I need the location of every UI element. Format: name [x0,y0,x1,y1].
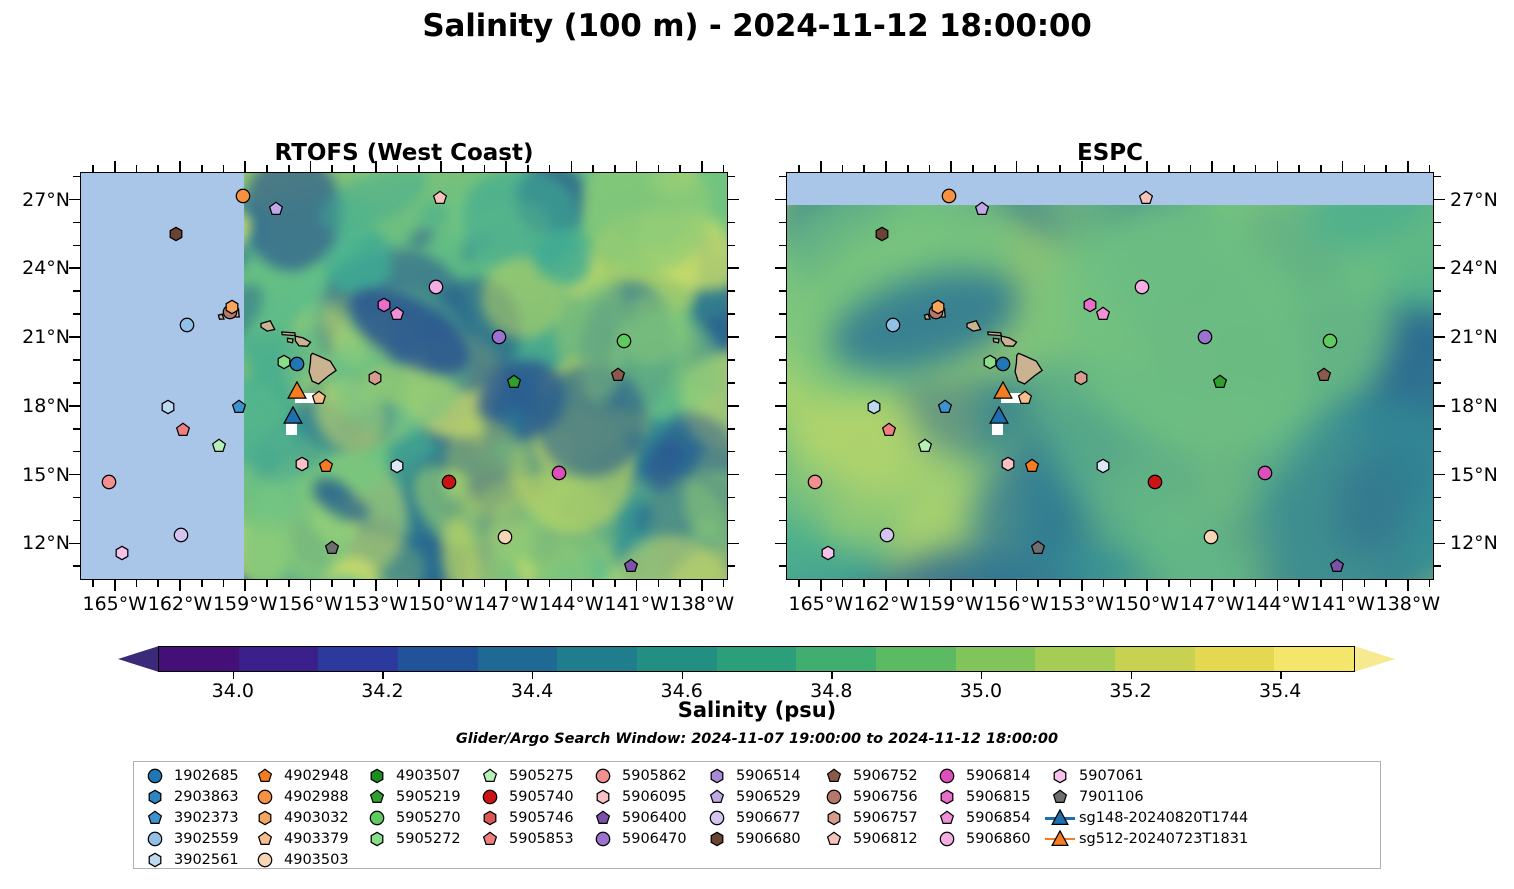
y-axis-minor-tick [728,428,735,430]
legend-item-5906400[interactable]: 5906400 [588,808,702,829]
map-marker-5906860[interactable] [428,279,444,295]
map-marker-5906529[interactable] [268,201,284,217]
colorbar-extend-high [1354,646,1395,672]
y-axis-minor-tick [73,382,80,384]
y-axis-tick [69,267,80,269]
x-axis-minor-tick [1233,165,1235,172]
legend-item-5905740[interactable]: 5905740 [475,787,588,808]
map-marker-3902559[interactable] [179,317,195,333]
map-marker-5906095[interactable] [294,456,310,472]
legend-marker-circle-icon [702,810,732,826]
map-marker-5906470[interactable] [1197,329,1213,345]
map-panel-rtofs[interactable] [80,172,728,580]
map-marker-5906677[interactable] [173,527,189,543]
legend-label: 5905862 [618,768,687,784]
legend-grid: 1902685290386339023733902559390256149029… [140,766,1220,870]
x-axis-minor-tick [1320,580,1322,587]
legend-label: sg148-20240820T1744 [1075,810,1248,826]
map-marker-sg512-20240723T1831[interactable] [993,381,1013,401]
x-axis-tick [375,580,377,591]
legend-label: 3902373 [170,810,239,826]
y-axis-minor-tick [779,290,786,292]
x-axis-minor-tick [1385,580,1387,587]
colorbar-tick [382,672,383,679]
legend-marker-pentagon-icon [1045,789,1075,805]
map-marker-5906680[interactable] [874,226,890,242]
map-marker-5905862[interactable] [807,474,823,490]
legend-label: 4903507 [392,768,461,784]
map-marker-5905740[interactable] [1147,474,1163,490]
x-axis-minor-tick [929,580,931,587]
legend-item-5906812[interactable]: 5906812 [819,828,932,849]
x-axis-tick [1277,161,1279,172]
legend-marker-circle-icon [140,768,170,784]
legend-label: 5906529 [732,789,801,805]
y-axis-tick [1434,405,1445,407]
map-marker-3902559b[interactable] [1095,458,1111,474]
legend-item-5906854[interactable]: 5906854 [932,808,1045,829]
x-axis-minor-tick [723,580,725,587]
legend-label: 4902948 [280,768,349,784]
x-axis-tick [244,580,246,591]
legend-column-0: 19026852903863390237339025593902561 [140,766,250,870]
y-axis-minor-tick [728,290,735,292]
legend-marker-hexagon-icon [140,789,170,805]
y-axis-minor-tick [1434,176,1441,178]
y-axis-tick [775,267,786,269]
x-axis-minor-tick [1103,165,1105,172]
x-axis-minor-tick [288,165,290,172]
colorbar[interactable]: 34.034.234.434.634.835.035.235.4 [118,646,1395,672]
y-axis-minor-tick [779,497,786,499]
x-axis-minor-tick [1124,165,1126,172]
colorbar-tick [233,672,234,679]
map-marker-sg148-20240820T1744[interactable] [989,406,1009,426]
map-panel-espc[interactable] [786,172,1434,580]
x-axis-tick [1016,161,1018,172]
x-axis-minor-tick [1429,165,1431,172]
legend-label: 4903032 [280,810,349,826]
x-axis-tick [636,580,638,591]
x-axis-minor-tick [842,165,844,172]
legend-item-5906680[interactable]: 5906680 [702,828,819,849]
salinity-field-rtofs [81,173,727,579]
y-axis-tick-label: 27°N [1450,189,1498,211]
colorbar-tick [1280,672,1281,679]
y-axis-tick [775,474,786,476]
map-marker-5905270[interactable] [1322,333,1338,349]
map-marker-5906470[interactable] [491,329,507,345]
map-marker-7901106[interactable] [324,540,340,556]
x-axis-minor-tick [136,165,138,172]
colorbar-band-12 [1115,647,1195,671]
legend-label: 7901106 [1075,789,1144,805]
map-marker-5905275[interactable] [917,438,933,454]
legend-item-2903863[interactable]: 2903863 [140,787,250,808]
y-axis-minor-tick [1434,520,1441,522]
map-marker-5906400[interactable] [1329,558,1345,574]
x-axis-tick-label: 138°W [1363,593,1453,615]
y-axis-tick [775,199,786,201]
map-marker-5906529[interactable] [974,201,990,217]
x-axis-tick [950,580,952,591]
map-marker-1902685[interactable] [289,356,305,372]
map-marker-5905275[interactable] [211,438,227,454]
map-marker-5906860[interactable] [1134,279,1150,295]
y-axis-minor-tick [728,176,735,178]
legend-item-5906677[interactable]: 5906677 [702,808,819,829]
legend-item-5906757[interactable]: 5906757 [819,808,932,829]
map-marker-5906814[interactable] [1257,465,1273,481]
y-axis-minor-tick [73,451,80,453]
legend-item-5905275[interactable]: 5905275 [475,766,588,787]
legend-item-4903503[interactable]: 4903503 [250,849,362,870]
map-marker-5905862[interactable] [101,474,117,490]
x-axis-tick [505,580,507,591]
map-marker-sg512-20240723T1831[interactable] [287,381,307,401]
map-marker-3902561[interactable] [160,399,176,415]
x-axis-minor-tick [527,165,529,172]
x-axis-minor-tick [1168,580,1170,587]
legend-item-5906815[interactable]: 5906815 [932,787,1045,808]
legend-marker-hexagon-icon [362,831,392,847]
legend-marker-circle-icon [932,831,962,847]
map-marker-5906812[interactable] [432,190,448,206]
legend-label: 5905746 [505,810,574,826]
legend-item-5905272[interactable]: 5905272 [362,828,475,849]
legend-item-4903507[interactable]: 4903507 [362,766,475,787]
legend-marker-pentagon-icon [819,768,849,784]
x-axis-minor-tick [157,165,159,172]
legend-item-5905853[interactable]: 5905853 [475,828,588,849]
legend-marker-triangle-line-icon [1045,831,1075,847]
x-axis-tick [950,161,952,172]
y-axis-tick [728,267,739,269]
legend-label: 3902561 [170,852,239,868]
legend-item-5906860[interactable]: 5906860 [932,828,1045,849]
map-marker-4903032[interactable] [224,299,240,315]
x-axis-minor-tick [907,165,909,172]
legend-marker-pentagon-icon [250,768,280,784]
x-axis-minor-tick [1059,165,1061,172]
x-axis-minor-tick [1429,580,1431,587]
map-marker-7901106[interactable] [1030,540,1046,556]
legend-item-5906529[interactable]: 5906529 [702,787,819,808]
legend-item-3902561[interactable]: 3902561 [140,849,250,870]
legend-marker-hexagon-icon [475,810,505,826]
legend-item-4903032[interactable]: 4903032 [250,808,362,829]
x-axis-tick [1081,161,1083,172]
legend-marker-circle-icon [588,768,618,784]
legend-label: 5905219 [392,789,461,805]
y-axis-tick [775,543,786,545]
legend-item-3902559[interactable]: 3902559 [140,828,250,849]
y-axis-tick-label: 18°N [1450,395,1498,417]
x-axis-minor-tick [201,580,203,587]
island-hawaii-big-island [309,353,336,384]
map-marker-5906680[interactable] [168,226,184,242]
y-axis-minor-tick [728,497,735,499]
x-axis-minor-tick [1190,165,1192,172]
x-axis-minor-tick [1364,580,1366,587]
legend-item-5906756[interactable]: 5906756 [819,787,932,808]
legend-item-5905862[interactable]: 5905862 [588,766,702,787]
y-axis-minor-tick [728,451,735,453]
legend-item-5906095[interactable]: 5906095 [588,787,702,808]
y-axis-minor-tick [728,222,735,224]
legend-item-7901106[interactable]: 7901106 [1045,787,1220,808]
y-axis-minor-tick [1434,290,1441,292]
map-marker-4902948[interactable] [1024,458,1040,474]
map-marker-4903503[interactable] [497,529,513,545]
legend-column-2: 4903507590521959052705905272 [362,766,475,870]
y-axis-tick [69,474,80,476]
x-axis-minor-tick [592,165,594,172]
legend-label: 5906757 [849,810,918,826]
legend-item-5905219[interactable]: 5905219 [362,787,475,808]
map-marker-3902373[interactable] [231,399,247,415]
x-axis-tick [310,161,312,172]
island-oahu [967,321,981,331]
x-axis-minor-tick [863,165,865,172]
legend-item-4903379[interactable]: 4903379 [250,828,362,849]
x-axis-tick [1342,161,1344,172]
x-axis-minor-tick [331,165,333,172]
legend-item-5906752[interactable]: 5906752 [819,766,932,787]
legend-item-sg148-20240820T1744[interactable]: sg148-20240820T1744 [1045,808,1220,829]
y-axis-minor-tick [779,359,786,361]
y-axis-minor-tick [73,497,80,499]
map-marker-4903379[interactable] [1017,390,1033,406]
colorbar-gradient [158,646,1355,672]
y-axis-minor-tick [728,245,735,247]
map-marker-4902988[interactable] [941,188,957,204]
map-marker-5905219[interactable] [1212,374,1228,390]
map-marker-5906752[interactable] [1316,367,1332,383]
legend-marker-hexagon-icon [1045,768,1075,784]
map-marker-3902373[interactable] [937,399,953,415]
y-axis-tick [69,336,80,338]
x-axis-tick [1342,580,1344,591]
map-marker-1902685[interactable] [995,356,1011,372]
map-marker-5905270[interactable] [616,333,632,349]
colorbar-label: Salinity (psu) [0,698,1514,722]
legend-label: 5906680 [732,831,801,847]
legend-label: 5906095 [618,789,687,805]
map-marker-4902948[interactable] [318,458,334,474]
map-marker-5906812[interactable] [1138,190,1154,206]
colorbar-band-6 [637,647,717,671]
x-axis-minor-tick [484,580,486,587]
y-axis-minor-tick [1434,428,1441,430]
y-axis-tick-label: 24°N [2,257,70,279]
map-marker-3902559b[interactable] [389,458,405,474]
x-axis-minor-tick [462,580,464,587]
map-marker-4903503[interactable] [1203,529,1219,545]
x-axis-minor-tick [658,165,660,172]
map-marker-5907061[interactable] [114,545,130,561]
map-marker-5906400[interactable] [623,558,639,574]
legend-label: 4903503 [280,852,349,868]
x-axis-minor-tick [462,165,464,172]
x-axis-tick [1407,580,1409,591]
colorbar-band-1 [239,647,319,671]
x-axis-minor-tick [1037,580,1039,587]
x-axis-minor-tick [679,580,681,587]
island-lanai [287,338,293,342]
map-marker-3902559[interactable] [885,317,901,333]
x-axis-minor-tick [288,580,290,587]
map-marker-5906757[interactable] [367,370,383,386]
map-marker-5906757[interactable] [1073,370,1089,386]
y-axis-minor-tick [779,451,786,453]
x-axis-minor-tick [527,580,529,587]
legend-item-5906514[interactable]: 5906514 [702,766,819,787]
x-axis-tick [1146,580,1148,591]
x-axis-tick [440,161,442,172]
y-axis-tick [1434,474,1445,476]
x-axis-tick [820,161,822,172]
legend-marker-circle-icon [932,768,962,784]
legend-item-sg512-20240723T1831[interactable]: sg512-20240723T1831 [1045,828,1220,849]
legend-item-5907061[interactable]: 5907061 [1045,766,1220,787]
y-axis-minor-tick [728,382,735,384]
x-axis-minor-tick [1037,165,1039,172]
legend-marker-pentagon-icon [250,831,280,847]
x-axis-minor-tick [418,580,420,587]
y-axis-tick [728,199,739,201]
legend-marker-hexagon-icon [588,789,618,805]
legend-label: 5905275 [505,768,574,784]
x-axis-tick [571,580,573,591]
map-marker-5906752[interactable] [610,367,626,383]
y-axis-minor-tick [73,428,80,430]
map-marker-5906095[interactable] [1000,456,1016,472]
legend-label: 5906752 [849,768,918,784]
x-axis-minor-tick [223,165,225,172]
map-marker-4903379[interactable] [311,390,327,406]
legend-label: 5906814 [962,768,1031,784]
x-axis-tick [505,161,507,172]
map-marker-5906854[interactable] [1095,306,1111,322]
x-axis-minor-tick [1103,580,1105,587]
map-marker-5905853[interactable] [881,422,897,438]
map-marker-5906677[interactable] [879,527,895,543]
marker-legend[interactable]: 1902685290386339023733902559390256149029… [133,761,1381,869]
y-axis-minor-tick [1434,451,1441,453]
legend-item-4902988[interactable]: 4902988 [250,787,362,808]
y-axis-tick-label: 21°N [2,326,70,348]
y-axis-tick [728,405,739,407]
legend-marker-hexagon-icon [932,789,962,805]
map-marker-5905853[interactable] [175,422,191,438]
legend-item-1902685[interactable]: 1902685 [140,766,250,787]
colorbar-band-5 [557,647,637,671]
legend-item-4902948[interactable]: 4902948 [250,766,362,787]
y-axis-tick [69,543,80,545]
x-axis-tick [885,580,887,591]
legend-marker-triangle-line-icon [1045,810,1075,826]
x-axis-minor-tick [549,165,551,172]
x-axis-tick [1211,161,1213,172]
legend-label: 5906860 [962,831,1031,847]
legend-item-5906814[interactable]: 5906814 [932,766,1045,787]
y-axis-minor-tick [779,428,786,430]
y-axis-tick-label: 27°N [2,189,70,211]
x-axis-minor-tick [1190,580,1192,587]
x-axis-minor-tick [201,165,203,172]
x-axis-minor-tick [842,580,844,587]
legend-column-5: 5906514590652959066775906680 [702,766,819,870]
x-axis-minor-tick [592,580,594,587]
x-axis-minor-tick [136,580,138,587]
x-axis-minor-tick [549,580,551,587]
map-marker-5907061[interactable] [820,545,836,561]
y-axis-minor-tick [73,245,80,247]
legend-item-5905270[interactable]: 5905270 [362,808,475,829]
legend-label: 5906854 [962,810,1031,826]
legend-label: 5906812 [849,831,918,847]
colorbar-band-8 [796,647,876,671]
legend-item-3902373[interactable]: 3902373 [140,808,250,829]
y-axis-tick [728,336,739,338]
map-marker-4902988[interactable] [235,188,251,204]
x-axis-tick [885,161,887,172]
map-marker-5906814[interactable] [551,465,567,481]
y-axis-tick [1434,267,1445,269]
legend-label: 5905272 [392,831,461,847]
y-axis-minor-tick [728,520,735,522]
legend-label: 5906400 [618,810,687,826]
colorbar-band-0 [159,647,239,671]
x-axis-minor-tick [484,165,486,172]
x-axis-minor-tick [331,580,333,587]
legend-marker-pentagon-icon [362,789,392,805]
legend-marker-circle-icon [140,831,170,847]
colorbar-band-13 [1195,647,1275,671]
y-axis-minor-tick [73,313,80,315]
y-axis-tick [775,405,786,407]
map-marker-5906854[interactable] [389,306,405,322]
map-marker-5905740[interactable] [441,474,457,490]
x-axis-minor-tick [614,580,616,587]
x-axis-minor-tick [994,580,996,587]
legend-marker-pentagon-icon [475,768,505,784]
x-axis-tick [114,580,116,591]
x-axis-minor-tick [353,580,355,587]
legend-column-7: 5906814590681559068545906860 [932,766,1045,870]
colorbar-band-4 [478,647,558,671]
map-marker-sg148-20240820T1744[interactable] [283,406,303,426]
map-marker-5905219[interactable] [506,374,522,390]
x-axis-minor-tick [658,580,660,587]
y-axis-minor-tick [1434,359,1441,361]
legend-item-5906470[interactable]: 5906470 [588,828,702,849]
legend-label: 5905740 [505,789,574,805]
legend-marker-pentagon-icon [702,789,732,805]
map-marker-4903032[interactable] [930,299,946,315]
legend-marker-pentagon-icon [475,831,505,847]
page-title: Salinity (100 m) - 2024-11-12 18:00:00 [0,8,1514,44]
legend-item-5905746[interactable]: 5905746 [475,808,588,829]
y-axis-minor-tick [73,565,80,567]
y-axis-tick-label: 24°N [1450,257,1498,279]
map-marker-3902561[interactable] [866,399,882,415]
colorbar-tick [1131,672,1132,679]
colorbar-band-11 [1035,647,1115,671]
panel-title-rtofs: RTOFS (West Coast) [80,140,728,166]
legend-marker-circle-icon [475,789,505,805]
